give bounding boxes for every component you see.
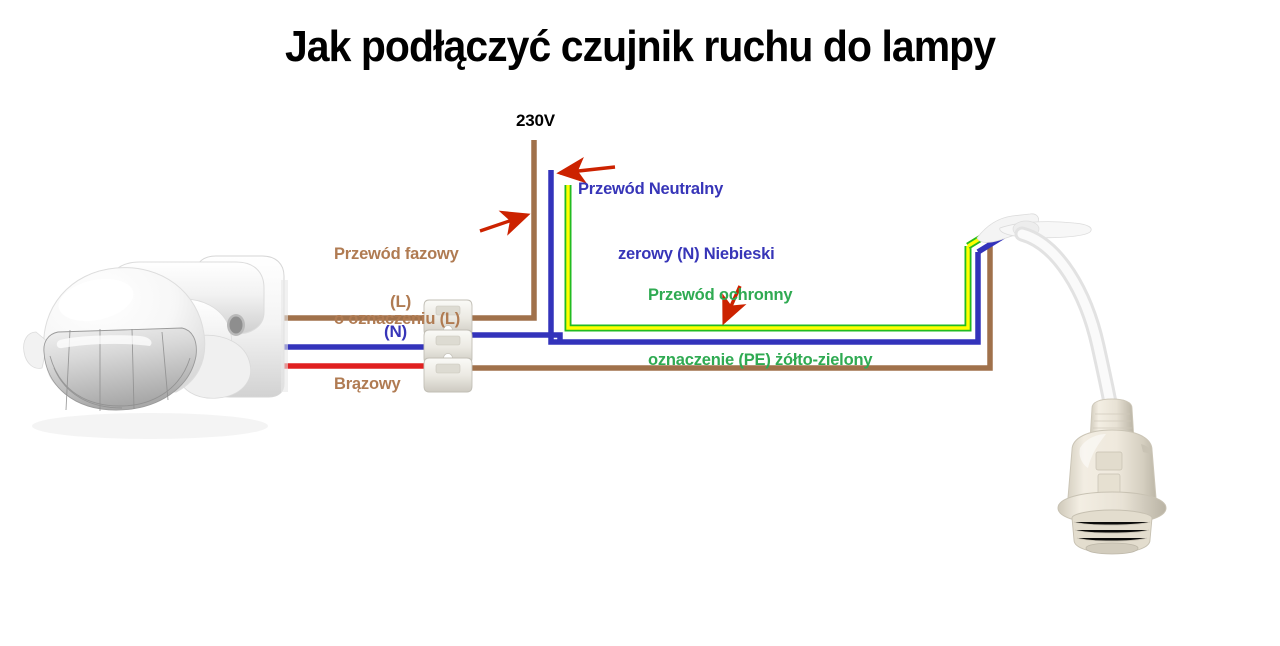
wire-mains-phase-brown	[468, 140, 534, 318]
label-pe-line2: oznaczenie (PE) żółto-zielony	[648, 347, 872, 374]
label-pe-line1: Przewód ochronny	[648, 282, 872, 309]
motion-sensor-pir	[24, 256, 288, 439]
label-terminal-neutral: (N)	[384, 322, 407, 342]
label-phase-line3: Brązowy	[334, 371, 460, 398]
lamp-socket-e27	[1058, 399, 1166, 554]
wiring-diagram-page: Jak podłączyć czujnik ruchu do lampy 230…	[0, 0, 1280, 646]
wire-lamp-neutral-blue	[468, 335, 560, 342]
page-title: Jak podłączyć czujnik ruchu do lampy	[45, 22, 1235, 72]
label-phase-line1: Przewód fazowy	[334, 241, 460, 268]
label-supply-voltage: 230V	[516, 111, 555, 131]
arrow-phase	[480, 215, 527, 231]
label-neutral-line1: Przewód Neutralny	[578, 176, 774, 203]
label-protective-wire: Przewód ochronny oznaczenie (PE) żółto-z…	[648, 244, 872, 412]
label-terminal-phase: (L)	[390, 292, 411, 312]
lamp-flex-cable	[1022, 234, 1112, 414]
lamp-assembly	[968, 214, 1166, 554]
wiring-diagram-graphics	[0, 0, 1280, 646]
label-phase-wire: Przewód fazowy o oznaczeniu (L) Brązowy	[334, 203, 460, 436]
